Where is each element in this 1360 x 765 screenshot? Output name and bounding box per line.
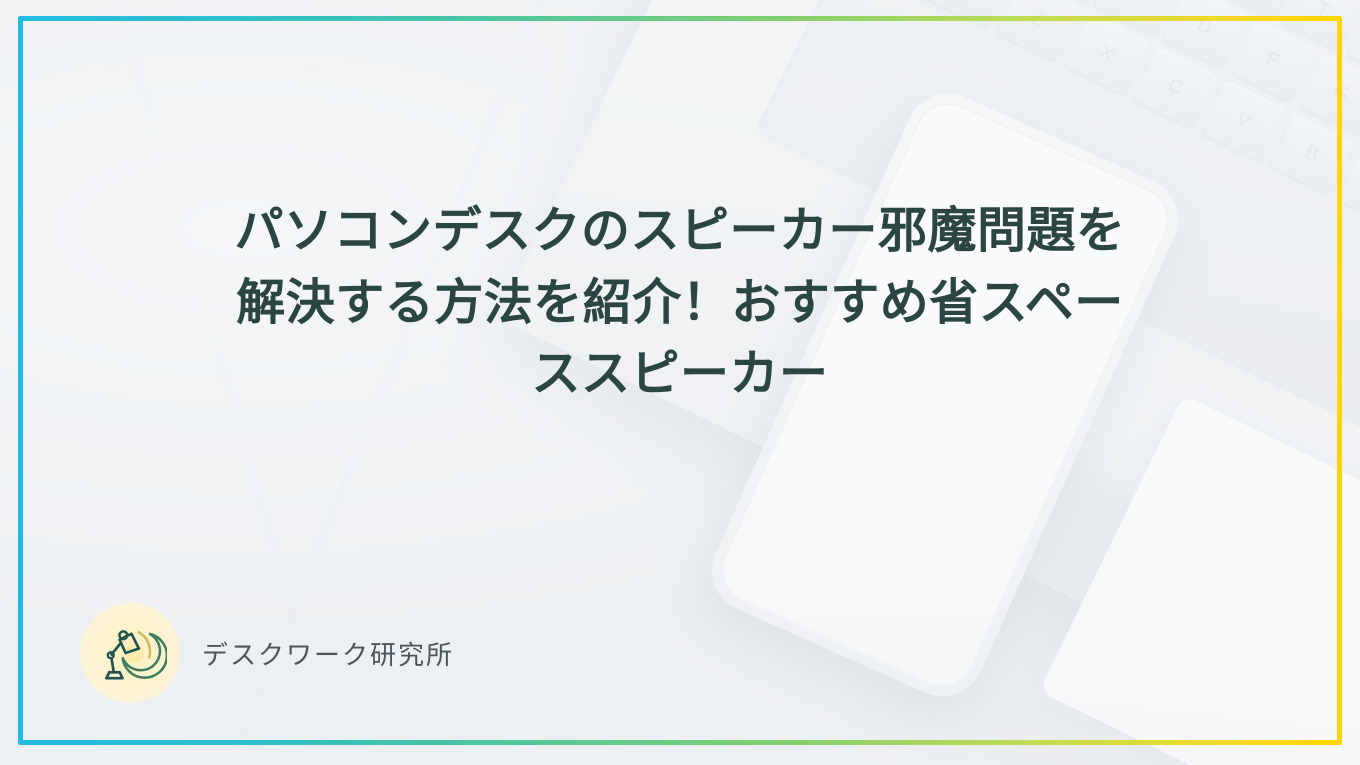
brand-logo xyxy=(80,603,180,703)
brand-lockup: デスクワーク研究所 xyxy=(80,603,454,703)
brand-name: デスクワーク研究所 xyxy=(202,635,454,672)
thumbnail-canvas: 234567890= tabQWERTYUIOP caps lockASDFGH… xyxy=(0,0,1360,765)
desk-lamp-icon xyxy=(93,616,167,690)
page-title: パソコンデスクのスピーカー邪魔問題を 解決する方法を紹介！おすすめ省スペー スス… xyxy=(110,196,1250,411)
